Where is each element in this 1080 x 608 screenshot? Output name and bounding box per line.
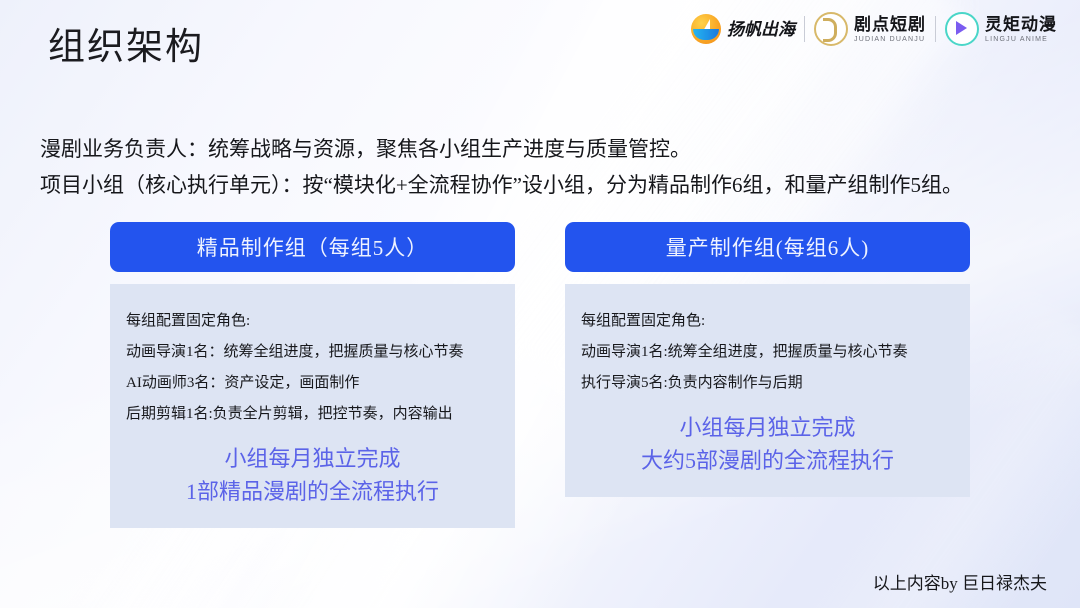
roles-title: 每组配置固定角色: bbox=[581, 306, 954, 337]
intro-line-teams: 项目小组（核心执行单元）：按“模块化+全流程协作”设小组，分为精品制作6组，和量… bbox=[40, 167, 1050, 203]
card-highlight-volume: 小组每月独立完成 大约5部漫剧的全流程执行 bbox=[581, 399, 954, 477]
lingju-play-icon bbox=[945, 12, 979, 46]
card-premium-team: 精品制作组（每组5人） 每组配置固定角色: 动画导演1名：统筹全组进度，把握质量… bbox=[110, 222, 515, 528]
judian-d-icon bbox=[814, 12, 848, 46]
slide-root: 组织架构 扬帆出海 剧点短剧 JUDIAN DUANJU 灵矩动漫 LINGJU… bbox=[0, 0, 1080, 608]
role-line: 动画导演1名：统筹全组进度，把握质量与核心节奏 bbox=[126, 337, 499, 368]
role-line: 动画导演1名:统筹全组进度，把握质量与核心节奏 bbox=[581, 337, 954, 368]
logo-subtitle: LINGJU ANIME bbox=[985, 36, 1057, 43]
logo-lingjudongman: 灵矩动漫 LINGJU ANIME bbox=[936, 12, 1066, 46]
card-volume-team: 量产制作组(每组6人) 每组配置固定角色: 动画导演1名:统筹全组进度，把握质量… bbox=[565, 222, 970, 528]
card-body-premium: 每组配置固定角色: 动画导演1名：统筹全组进度，把握质量与核心节奏 AI动画师3… bbox=[110, 284, 515, 528]
sail-sun-icon bbox=[691, 14, 721, 44]
highlight-line: 小组每月独立完成 bbox=[126, 442, 499, 475]
logo-subtitle: JUDIAN DUANJU bbox=[854, 36, 926, 43]
roles-title: 每组配置固定角色: bbox=[126, 306, 499, 337]
logo-name: 扬帆出海 bbox=[727, 21, 795, 38]
card-header-premium: 精品制作组（每组5人） bbox=[110, 222, 515, 272]
card-highlight-premium: 小组每月独立完成 1部精品漫剧的全流程执行 bbox=[126, 430, 499, 508]
team-cards: 精品制作组（每组5人） 每组配置固定角色: 动画导演1名：统筹全组进度，把握质量… bbox=[0, 222, 1080, 528]
role-line: 后期剪辑1名:负责全片剪辑，把控节奏，内容输出 bbox=[126, 399, 499, 430]
highlight-line: 小组每月独立完成 bbox=[581, 411, 954, 444]
logo-text-group: 剧点短剧 JUDIAN DUANJU bbox=[854, 16, 926, 43]
logo-yangfanchuhai: 扬帆出海 bbox=[682, 14, 804, 44]
page-title: 组织架构 bbox=[48, 16, 204, 70]
logo-name: 剧点短剧 bbox=[854, 16, 926, 33]
logo-name: 灵矩动漫 bbox=[985, 16, 1057, 33]
logo-judianduanju: 剧点短剧 JUDIAN DUANJU bbox=[805, 12, 935, 46]
footer-credit: 以上内容by 巨日禄杰夫 bbox=[873, 569, 1047, 594]
logo-text-group: 扬帆出海 bbox=[727, 21, 795, 38]
role-line: AI动画师3名：资产设定，画面制作 bbox=[126, 368, 499, 399]
intro-paragraphs: 漫剧业务负责人：统筹战略与资源，聚焦各小组生产进度与质量管控。 项目小组（核心执… bbox=[40, 131, 1050, 203]
logo-bar: 扬帆出海 剧点短剧 JUDIAN DUANJU 灵矩动漫 LINGJU ANIM… bbox=[682, 8, 1066, 50]
card-body-volume: 每组配置固定角色: 动画导演1名:统筹全组进度，把握质量与核心节奏 执行导演5名… bbox=[565, 284, 970, 497]
role-line: 执行导演5名:负责内容制作与后期 bbox=[581, 368, 954, 399]
highlight-line: 1部精品漫剧的全流程执行 bbox=[126, 475, 499, 508]
highlight-line: 大约5部漫剧的全流程执行 bbox=[581, 444, 954, 477]
intro-line-owner: 漫剧业务负责人：统筹战略与资源，聚焦各小组生产进度与质量管控。 bbox=[40, 131, 1050, 167]
card-header-volume: 量产制作组(每组6人) bbox=[565, 222, 970, 272]
logo-text-group: 灵矩动漫 LINGJU ANIME bbox=[985, 16, 1057, 43]
